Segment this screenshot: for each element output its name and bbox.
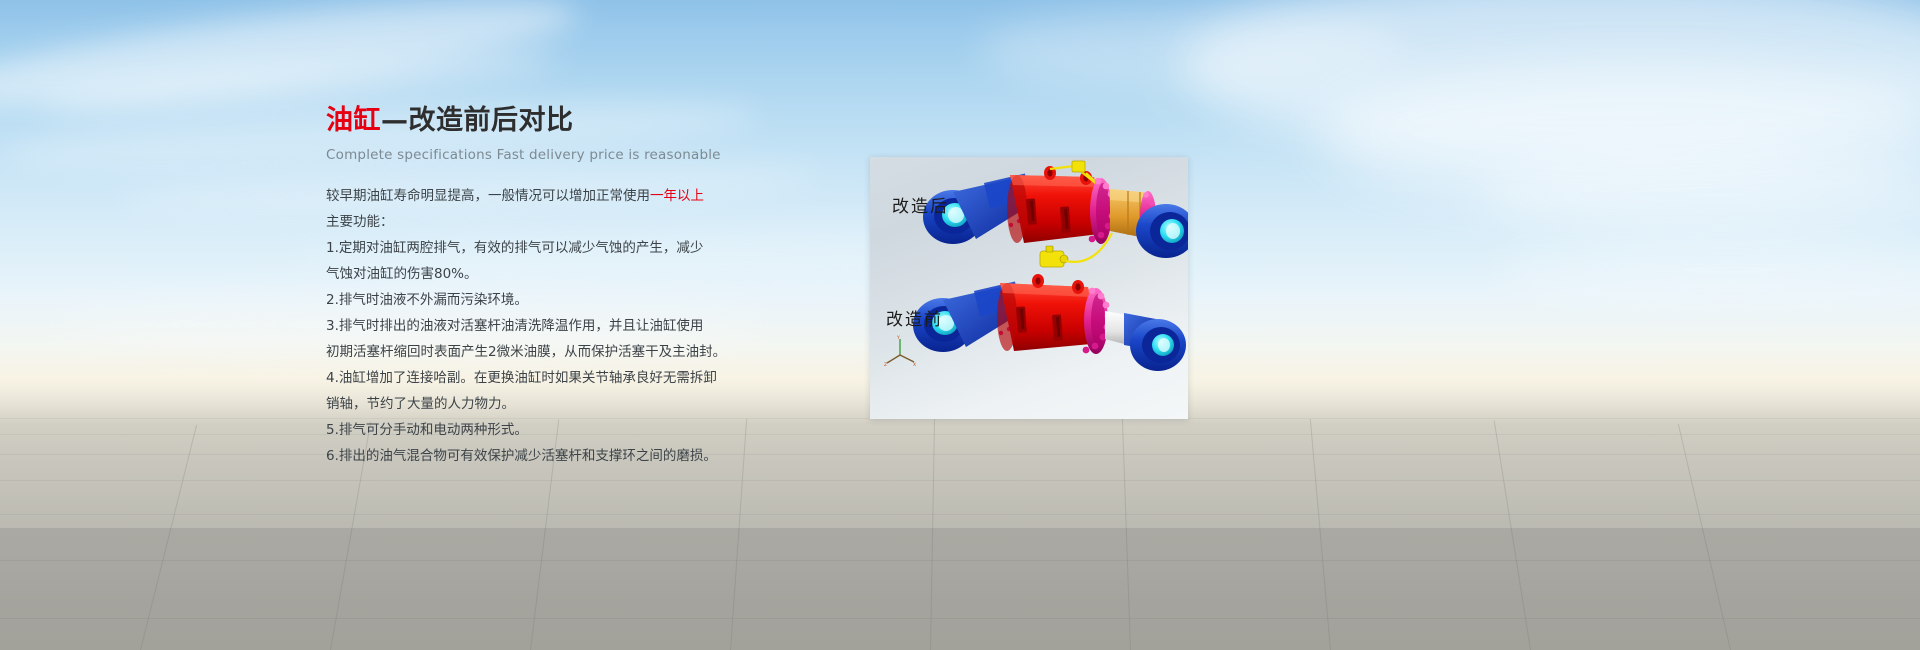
cloud-streak	[980, 10, 1400, 90]
feature-line: 销轴，节约了大量的人力物力。	[326, 391, 886, 417]
feature-line: 主要功能：	[326, 209, 886, 235]
banner-text-content: 油缸—改造前后对比 Complete specifications Fast d…	[326, 104, 886, 469]
cylinder-before-image	[888, 263, 1188, 413]
feature-line: 3.排气时排出的油液对活塞杆油清洗降温作用，并且让油缸使用	[326, 313, 886, 339]
pavement-hline	[0, 480, 1920, 481]
lifting-eye	[1032, 274, 1044, 288]
clevis-front	[1130, 319, 1186, 371]
pavement-hline	[0, 514, 1920, 515]
feature-list: 较早期油缸寿命明显提高，一般情况可以增加正常使用一年以上 主要功能： 1.定期对…	[326, 183, 886, 469]
cloud-puff	[1180, 0, 1920, 160]
feature-line: 2.排气时油液不外漏而污染环境。	[326, 287, 886, 313]
feature-line-emphasis: 一年以上	[650, 188, 704, 204]
product-comparison-panel: 改造后 改造前 Y Z X	[870, 157, 1188, 419]
pavement-hline	[0, 434, 1920, 435]
pavement-shading	[0, 528, 1920, 650]
svg-text:Z: Z	[884, 362, 887, 367]
page-subtitle: Complete specifications Fast delivery pr…	[326, 147, 886, 163]
svg-text:Y: Y	[896, 335, 900, 341]
cloud-puff	[1480, 150, 1920, 240]
feature-line: 初期活塞杆缩回时表面产生2微米油膜，从而保护活塞干及主油封。	[326, 339, 886, 365]
feature-line: 气蚀对油缸的伤害80%。	[326, 261, 886, 287]
feature-line: 5.排气可分手动和电动两种形式。	[326, 417, 886, 443]
cloud-puff	[1500, 240, 1920, 300]
page-title-rest: —改造前后对比	[381, 105, 574, 136]
feature-line: 1.定期对油缸两腔排气，有效的排气可以减少气蚀的产生，减少	[326, 235, 886, 261]
feature-line: 较早期油缸寿命明显提高，一般情况可以增加正常使用一年以上	[326, 183, 886, 209]
feature-line-text: 较早期油缸寿命明显提高，一般情况可以增加正常使用	[326, 188, 650, 204]
feature-line: 4.油缸增加了连接哈副。在更换油缸时如果关节轴承良好无需拆卸	[326, 365, 886, 391]
page-title: 油缸—改造前后对比	[326, 104, 886, 138]
label-before-modification: 改造前	[886, 305, 943, 330]
feature-line: 6.排出的油气混合物可有效保护减少活塞杆和支撑环之间的磨损。	[326, 443, 886, 469]
page-title-highlight: 油缸	[326, 105, 381, 136]
label-after-modification: 改造后	[892, 192, 949, 217]
pavement-hline	[0, 454, 1920, 455]
axis-gizmo-icon: Y Z X	[884, 335, 918, 367]
banner-stage: 油缸—改造前后对比 Complete specifications Fast d…	[0, 0, 1920, 650]
svg-text:X: X	[913, 362, 916, 367]
lifting-eye	[1072, 280, 1084, 294]
cloud-puff	[1320, 60, 1920, 210]
